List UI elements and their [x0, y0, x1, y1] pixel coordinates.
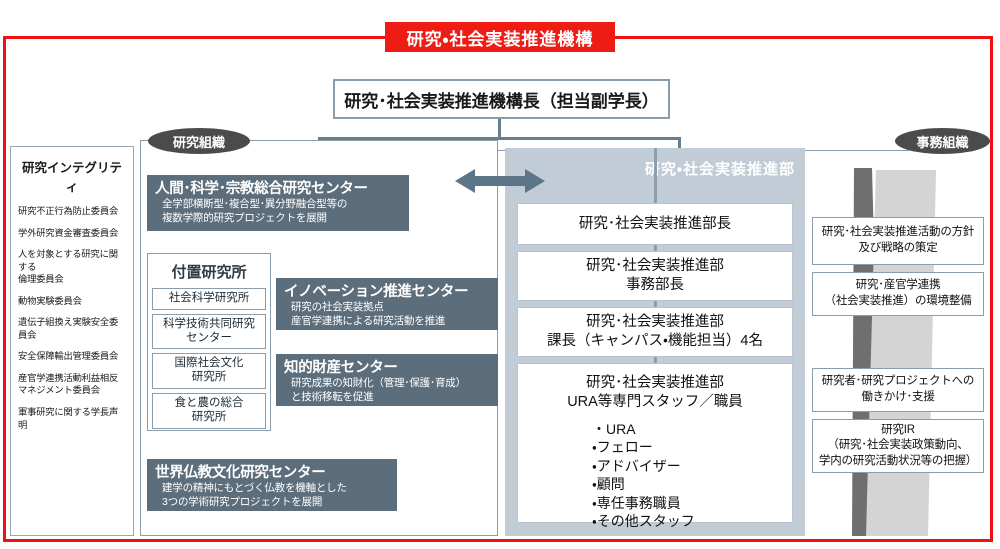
institute-item: 食と農の総合 研究所 [152, 393, 266, 429]
card-intellectual-property-center: 知的財産センター 研究成果の知財化（管理･保護･育成） と技術移転を促進 [276, 354, 498, 406]
card-title: 世界仏教文化研究センター [155, 464, 389, 482]
decorative-ribbon-shape [806, 148, 990, 536]
connector-promo-1 [654, 245, 657, 251]
card-title: 人間･科学･宗教総合研究センター [155, 180, 401, 198]
research-organization-panel: 人間･科学･宗教総合研究センター 全学部横断型･複合型･異分野融合型等の 複数学… [140, 140, 498, 536]
list-item: 遺伝子組換え実験安全委員会 [18, 316, 126, 341]
institute-item: 国際社会文化 研究所 [152, 353, 266, 389]
connector-promo-2 [654, 301, 657, 307]
institute-item: 科学技術共同研究 センター [152, 314, 266, 350]
list-item: ・専任事務職員 [592, 494, 792, 512]
research-integrity-heading: 研究インテグリティ [18, 157, 126, 195]
card-title: 知的財産センター [284, 359, 490, 377]
promo-box-admin-director: 研究･社会実装推進部 事務部長 [517, 251, 793, 301]
list-item: 人を対象とする研究に関する 倫理委員会 [18, 248, 126, 286]
promotion-department-header: 研究・社会実装推進部 [645, 158, 795, 179]
organization-head-label: 研究･社会実装推進機構長（担当副学長） [344, 87, 659, 112]
list-item: 研究不正行為防止委員会 [18, 205, 126, 218]
promo-box-section-chiefs: 研究･社会実装推進部 課長（キャンパス・機能担当）4名 [517, 307, 793, 357]
promotion-department-panel: 研究・社会実装推進部 研究･社会実装推進部長 研究･社会実装推進部 事務部長 研… [505, 148, 805, 536]
card-description: 研究成果の知財化（管理･保護･育成） と技術移転を促進 [284, 377, 490, 404]
card-world-buddhist-culture-center: 世界仏教文化研究センター 建学の精神にもとづく仏教を機軸とした 3つの学術研究プ… [147, 459, 397, 511]
card-title: イノベーション推進センター [284, 283, 490, 301]
organization-head-box: 研究･社会実装推進機構長（担当副学長） [333, 79, 670, 119]
affiliated-institutes-block: 付置研究所 社会科学研究所 科学技術共同研究 センター 国際社会文化 研究所 食… [147, 253, 271, 431]
list-item: ・アドバイザー [592, 457, 792, 475]
ura-staff-title: 研究･社会実装推進部 URA等専門スタッフ／職員 [518, 374, 792, 412]
card-human-science-religion-center: 人間･科学･宗教総合研究センター 全学部横断型･複合型･異分野融合型等の 複数学… [147, 175, 409, 231]
admin-box-environment: 研究･産官学連携 （社会実装推進）の環境整備 [812, 272, 984, 316]
list-item: ・フェロー [592, 438, 792, 456]
promo-box-director: 研究･社会実装推進部長 [517, 203, 793, 245]
list-item: ・その他スタッフ [592, 512, 792, 530]
connector-promo-0 [654, 148, 657, 203]
ura-staff-list: ・URA ・フェロー ・アドバイザー ・顧問 ・専任事務職員 ・その他スタッフ [518, 420, 792, 531]
diagram-title-text: 研究・社会実装推進機構 [407, 25, 594, 50]
label-oval-research-org: 研究組織 [148, 128, 250, 154]
connector-promo-3 [654, 357, 657, 363]
promo-box-ura-staff: 研究･社会実装推進部 URA等専門スタッフ／職員 ・URA ・フェロー ・アドバ… [517, 363, 793, 523]
institute-item: 社会科学研究所 [152, 288, 266, 310]
admin-box-research-ir: 研究IR （研究･社会実装政策動向、 学内の研究活動状況等の把握） [812, 419, 984, 473]
oval-research-text: 研究組織 [173, 132, 225, 151]
card-innovation-promotion-center: イノベーション推進センター 研究の社会実装拠点 産官学連携による研究活動を推進 [276, 278, 498, 330]
diagram-title-banner: 研究・社会実装推進機構 [385, 22, 615, 52]
admin-box-policy-strategy: 研究･社会実装推進活動の方針 及び戦略の策定 [812, 217, 984, 265]
bidirectional-arrow-icon [455, 166, 545, 196]
list-item: 動物実験委員会 [18, 295, 126, 308]
list-item: 安全保障輸出管理委員会 [18, 350, 126, 363]
list-item: ・URA [592, 420, 792, 438]
card-description: 研究の社会実装拠点 産官学連携による研究活動を推進 [284, 301, 490, 328]
list-item: 軍事研究に関する学長声明 [18, 406, 126, 431]
list-item: 産官学連携活動利益相反 マネジメント委員会 [18, 372, 126, 397]
card-description: 全学部横断型･複合型･異分野融合型等の 複数学際的研究プロジェクトを展開 [155, 198, 401, 225]
card-description: 建学の精神にもとづく仏教を機軸とした 3つの学術研究プロジェクトを展開 [155, 482, 389, 509]
admin-organization-column: 研究･社会実装推進活動の方針 及び戦略の策定 研究･産官学連携 （社会実装推進）… [806, 148, 990, 536]
label-oval-admin-org: 事務組織 [895, 128, 990, 154]
list-item: 学外研究資金審査委員会 [18, 227, 126, 240]
research-integrity-list: 研究不正行為防止委員会 学外研究資金審査委員会 人を対象とする研究に関する 倫理… [18, 205, 126, 431]
oval-admin-text: 事務組織 [916, 132, 968, 151]
admin-box-researcher-support: 研究者･研究プロジェクトへの 働きかけ･支援 [812, 368, 984, 412]
research-integrity-panel: 研究インテグリティ 研究不正行為防止委員会 学外研究資金審査委員会 人を対象とす… [10, 146, 134, 536]
list-item: ・顧問 [592, 475, 792, 493]
affiliated-institutes-heading: 付置研究所 [152, 261, 266, 282]
